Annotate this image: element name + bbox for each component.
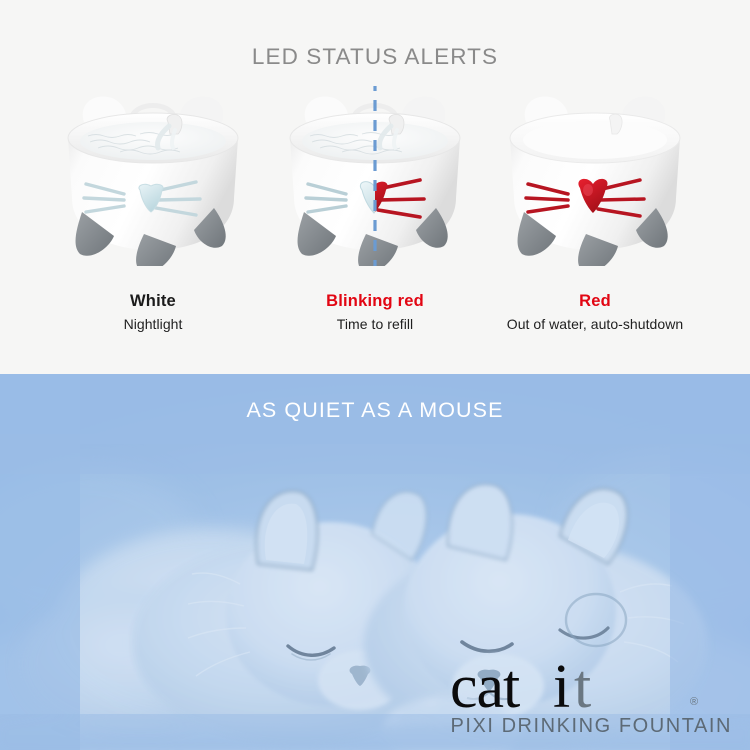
fountain-illustration-white	[28, 86, 278, 266]
led-status-alerts-section: LED STATUS ALERTS	[0, 0, 750, 374]
alert-labels-white: White Nightlight	[28, 291, 278, 333]
alert-item-red: Red Out of water, auto-shutdown	[470, 86, 720, 366]
section-title-led-status: LED STATUS ALERTS	[0, 44, 750, 70]
svg-text:cat: cat	[450, 655, 520, 717]
fountain-illustration-blinking-red	[250, 86, 500, 266]
alert-status-label: Blinking red	[250, 291, 500, 311]
alert-status-label: Red	[470, 291, 720, 311]
as-quiet-as-a-mouse-section: AS QUIET AS A MOUSE cat i t ® PIXI DRINK…	[0, 374, 750, 750]
catit-brand-logo: cat i t ® PIXI DRINKING FOUNTAIN	[450, 655, 732, 738]
section-title-as-quiet-as-a-mouse: AS QUIET AS A MOUSE	[0, 398, 750, 423]
registered-mark-text: ®	[690, 696, 698, 708]
svg-text:i: i	[553, 655, 570, 717]
alert-labels-red: Red Out of water, auto-shutdown	[470, 291, 720, 333]
alert-labels-blinking-red: Blinking red Time to refill	[250, 291, 500, 333]
alert-item-white: White Nightlight	[28, 86, 278, 366]
alert-status-label: White	[28, 291, 278, 311]
alert-description: Nightlight	[28, 315, 278, 333]
alert-description: Out of water, auto-shutdown	[470, 315, 720, 333]
alert-item-blinking-red: Blinking red Time to refill	[250, 86, 500, 366]
product-infographic: LED STATUS ALERTS	[0, 0, 750, 750]
alert-description: Time to refill	[250, 315, 500, 333]
svg-text:t: t	[574, 655, 591, 717]
catit-wordmark: cat i t ®	[450, 655, 708, 717]
product-tagline: PIXI DRINKING FOUNTAIN	[450, 715, 732, 738]
fountain-illustration-red	[470, 86, 720, 266]
